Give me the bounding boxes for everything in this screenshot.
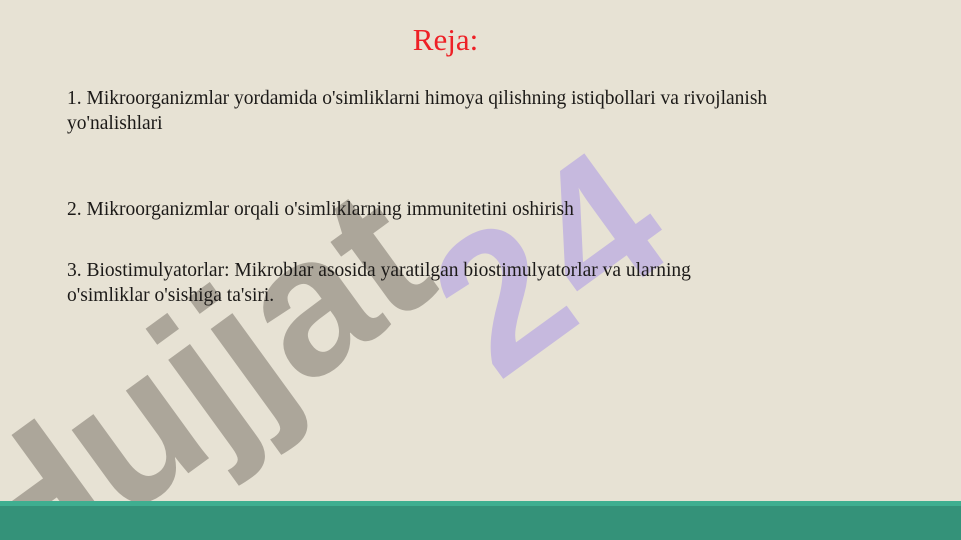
agenda-item-3: 3. Biostimulyatorlar: Mikroblar asosida …: [67, 258, 767, 308]
footer-bar: [0, 506, 961, 540]
agenda-item-1: 1. Mikroorganizmlar yordamida o'simlikla…: [67, 86, 842, 136]
presentation-slide: Hujjat 24 Reja: 1. Mikroorganizmlar yord…: [0, 0, 961, 540]
slide-body-list: 1. Mikroorganizmlar yordamida o'simlikla…: [67, 86, 857, 308]
slide-content: Reja: 1. Mikroorganizmlar yordamida o'si…: [0, 0, 961, 540]
slide-title: Reja:: [0, 22, 891, 58]
agenda-item-2: 2. Mikroorganizmlar orqali o'simliklarni…: [67, 197, 842, 222]
